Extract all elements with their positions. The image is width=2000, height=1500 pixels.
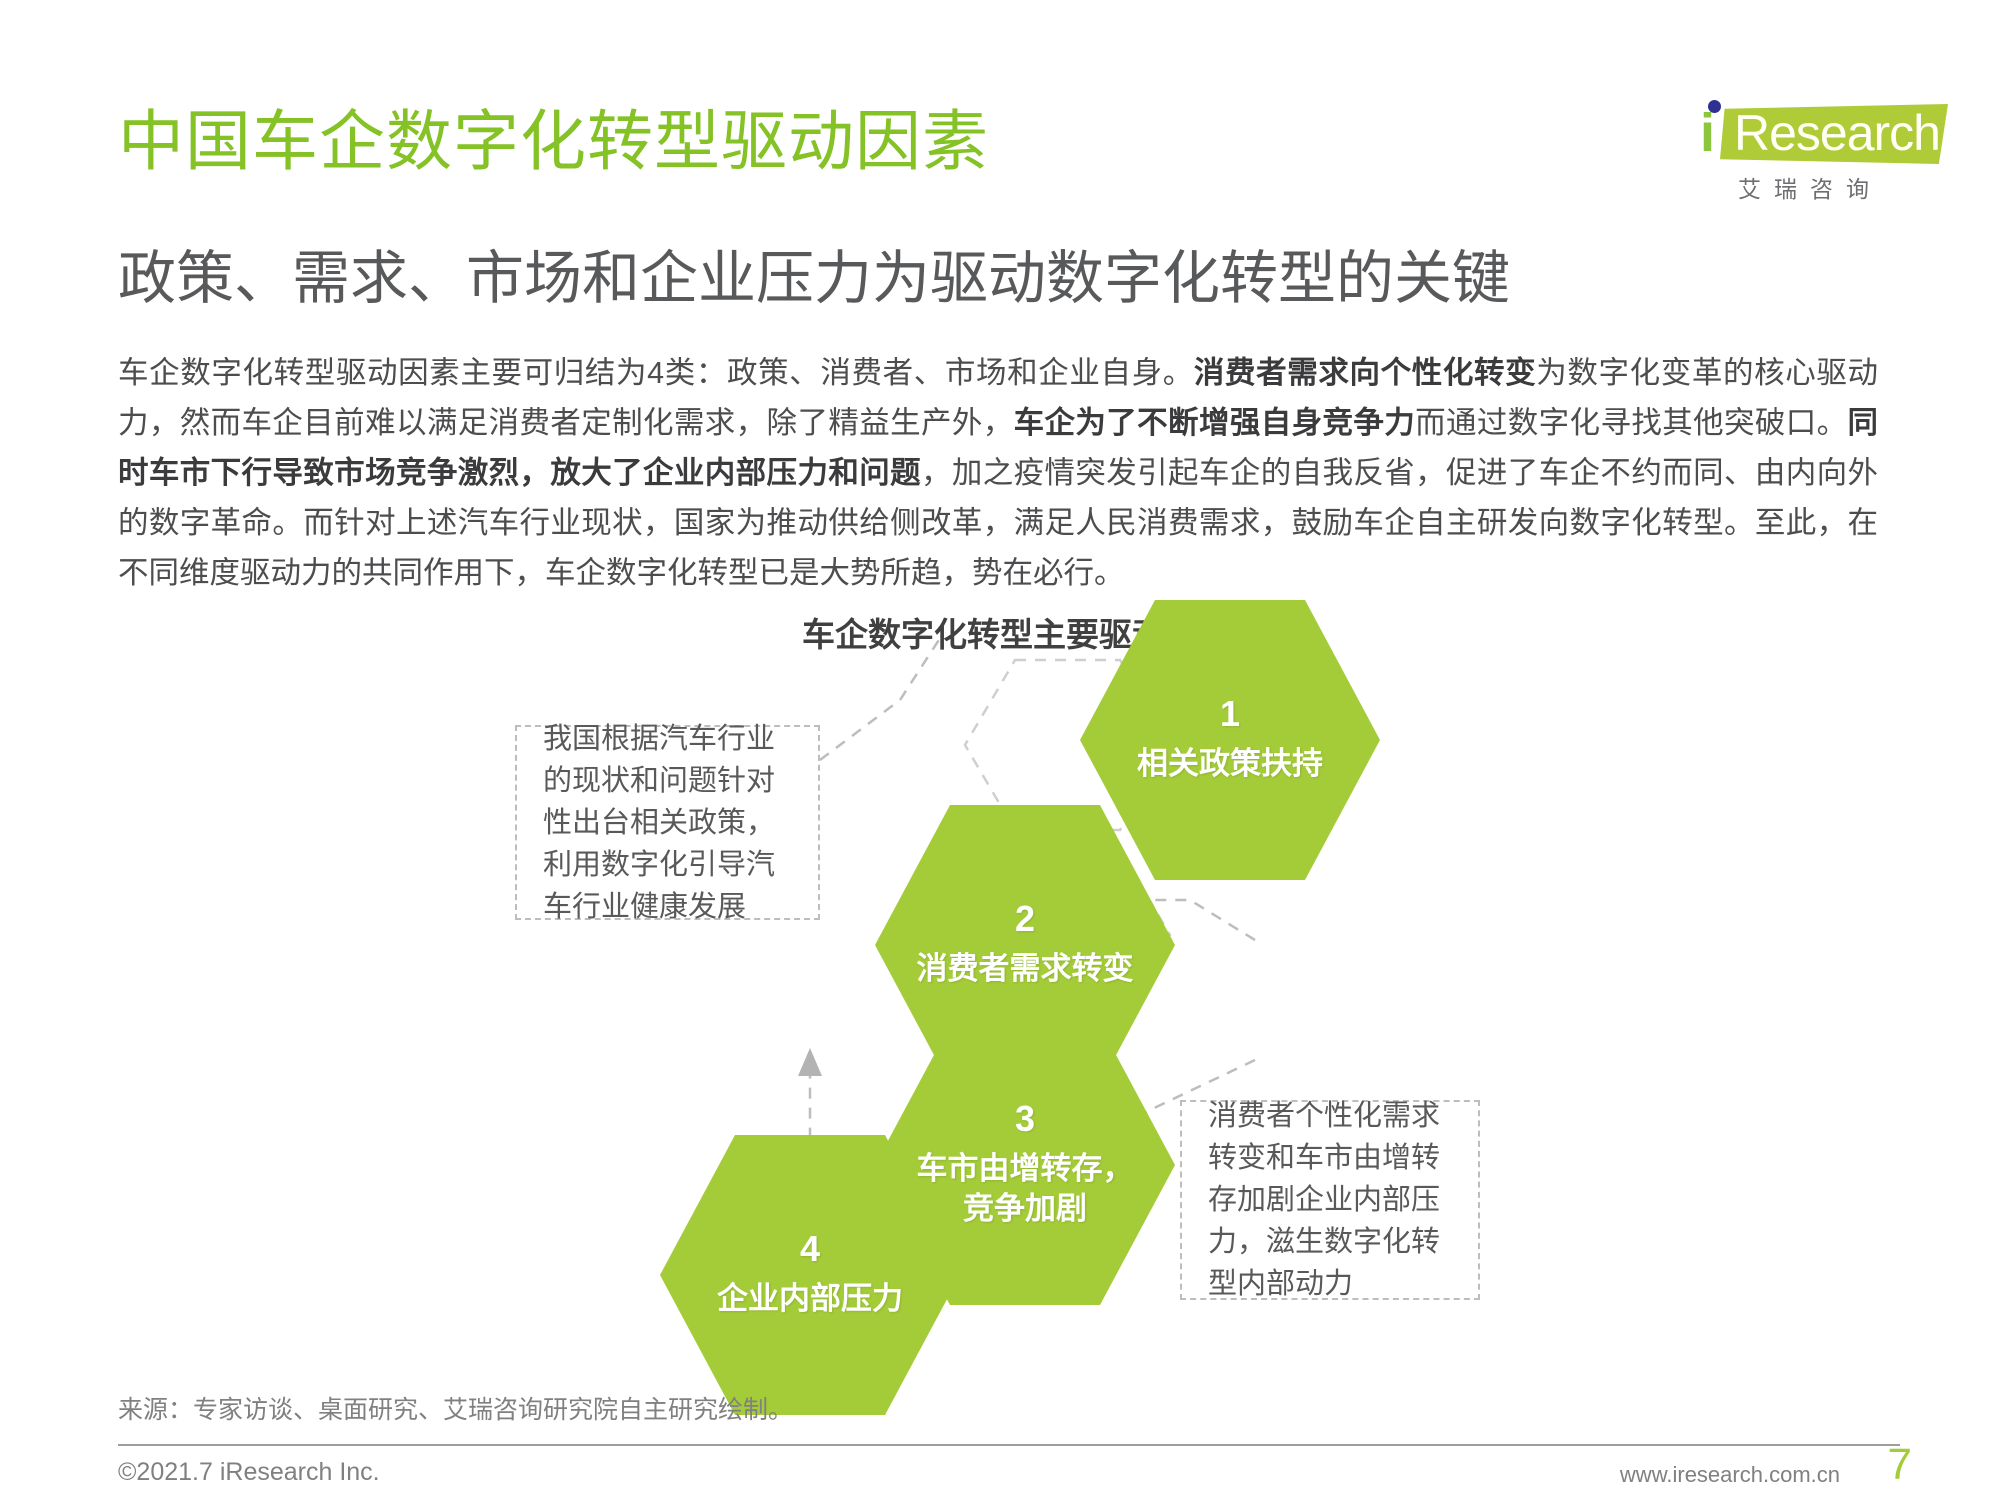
paragraph-run-bold: 车企为了不断增强自身竞争力 bbox=[1014, 406, 1416, 440]
hexagon-label: 车市由增转存，竞争加剧 bbox=[914, 1149, 1136, 1229]
hexagon-number: 2 bbox=[1015, 901, 1035, 937]
logo-wordmark: Research bbox=[1734, 108, 1940, 158]
website-url: www.iresearch.com.cn bbox=[1620, 1462, 1840, 1488]
callout-left: 我国根据汽车行业的现状和问题针对性出台相关政策，利用数字化引导汽车行业健康发展 bbox=[515, 725, 820, 920]
paragraph-run: 而通过数字化寻找其他突破口。 bbox=[1415, 406, 1847, 440]
page-number: 7 bbox=[1888, 1440, 1912, 1490]
slide-canvas: 中国车企数字化转型驱动因素 政策、需求、市场和企业压力为驱动数字化转型的关键 i… bbox=[0, 0, 2000, 1500]
iresearch-logo: i Research 艾瑞咨询 bbox=[1692, 78, 1952, 188]
paragraph-run-bold: 消费者需求向个性化转变 bbox=[1194, 356, 1536, 390]
hexagon-number: 4 bbox=[800, 1231, 820, 1267]
paragraph-run: 车企数字化转型驱动因素主要可归结为4类：政策、消费者、市场和企业自身。 bbox=[118, 356, 1194, 390]
copyright-text: ©2021.7 iResearch Inc. bbox=[118, 1458, 380, 1487]
hexagon-number: 1 bbox=[1220, 696, 1240, 732]
callout-left-text: 我国根据汽车行业的现状和问题针对性出台相关政策，利用数字化引导汽车行业健康发展 bbox=[517, 718, 818, 928]
body-paragraph: 车企数字化转型驱动因素主要可归结为4类：政策、消费者、市场和企业自身。消费者需求… bbox=[118, 348, 1878, 598]
logo-dot-icon bbox=[1708, 100, 1721, 113]
hexagon-label: 企业内部压力 bbox=[699, 1279, 921, 1319]
driver-hexagon-diagram: 1 相关政策扶持 2 消费者需求转变 3 车市由增转存，竞争加剧 4 企业内部压… bbox=[0, 640, 2000, 1400]
logo-letter-i: i bbox=[1700, 106, 1715, 160]
page-subtitle: 政策、需求、市场和企业压力为驱动数字化转型的关键 bbox=[118, 250, 1510, 308]
hexagon-number: 3 bbox=[1015, 1101, 1035, 1137]
hexagon-label: 相关政策扶持 bbox=[1119, 744, 1341, 784]
source-note: 来源：专家访谈、桌面研究、艾瑞咨询研究院自主研究绘制。 bbox=[118, 1390, 793, 1426]
logo-chinese-name: 艾瑞咨询 bbox=[1738, 170, 1882, 204]
callout-right-text: 消费者个性化需求转变和车市由增转存加剧企业内部压力，滋生数字化转型内部动力 bbox=[1182, 1095, 1478, 1305]
footer-divider bbox=[118, 1444, 1900, 1446]
callout-right: 消费者个性化需求转变和车市由增转存加剧企业内部压力，滋生数字化转型内部动力 bbox=[1180, 1100, 1480, 1300]
hexagon-label: 消费者需求转变 bbox=[914, 949, 1136, 989]
page-title: 中国车企数字化转型驱动因素 bbox=[118, 108, 989, 174]
